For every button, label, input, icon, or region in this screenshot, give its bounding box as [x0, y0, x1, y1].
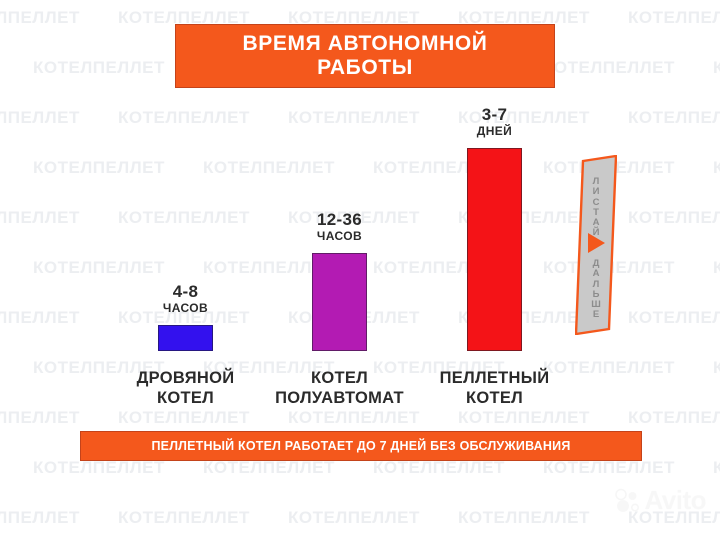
bar-1 [158, 325, 213, 351]
swipe-next-letter: И [575, 187, 617, 197]
page-title: ВРЕМЯ АВТОНОМНОЙ РАБОТЫ [243, 32, 488, 79]
bar-value-label: 12-36ЧАСОВ [260, 211, 420, 244]
footer-banner: ПЕЛЛЕТНЫЙ КОТЕЛ РАБОТАЕТ ДО 7 ДНЕЙ БЕЗ О… [80, 431, 642, 461]
avito-watermark: Avito [614, 485, 706, 516]
bar-value-unit: ЧАСОВ [106, 301, 266, 316]
swipe-next-label-bottom: ДАЛЬШЕ [575, 259, 617, 321]
swipe-next-letter: Е [575, 310, 617, 320]
swipe-next-badge[interactable]: ЛИСТАЙ ДАЛЬШЕ [575, 155, 617, 335]
bar-value-label: 4-8ЧАСОВ [106, 283, 266, 316]
avito-wordmark: Avito [644, 485, 706, 516]
bar-value-unit: ЧАСОВ [260, 229, 420, 244]
swipe-next-label-top: ЛИСТАЙ [575, 177, 617, 239]
bar-value-label: 3-7ДНЕЙ [415, 106, 575, 139]
swipe-next-letter: А [575, 269, 617, 279]
bar-3 [467, 148, 522, 351]
avito-dots-icon [614, 488, 640, 514]
bar-category-label: ПЕЛЛЕТНЫЙ КОТЕЛ [395, 369, 595, 409]
bar-2 [312, 253, 367, 351]
infographic-canvas: КОТЕЛПЕЛЛЕТКОТЕЛПЕЛЛЕТКОТЕЛПЕЛЛЕТКОТЕЛПЕ… [0, 0, 720, 540]
bar-value-number: 3-7 [415, 106, 575, 124]
footer-annotation: ПЕЛЛЕТНЫЙ КОТЕЛ РАБОТАЕТ ДО 7 ДНЕЙ БЕЗ О… [151, 439, 570, 453]
header-banner: ВРЕМЯ АВТОНОМНОЙ РАБОТЫ [175, 24, 555, 88]
bar-value-number: 12-36 [260, 211, 420, 229]
bar-value-number: 4-8 [106, 283, 266, 301]
triangle-right-icon [588, 233, 605, 253]
bar-value-unit: ДНЕЙ [415, 124, 575, 139]
